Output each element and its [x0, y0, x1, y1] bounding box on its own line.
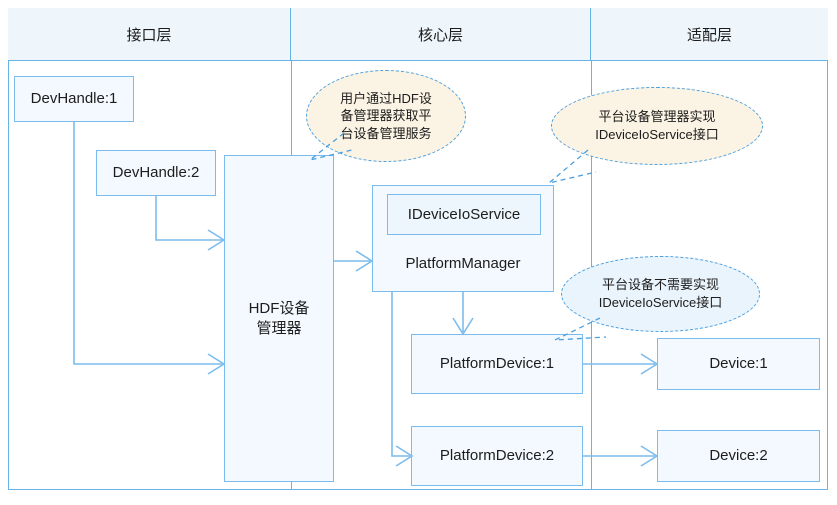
- connector-devhandle1-to-hdf: [74, 122, 222, 364]
- callout-platform-device: 平台设备不需要实现 IDeviceIoService接口: [561, 256, 760, 332]
- diagram-canvas: 接口层 核心层 适配层 DevHandle:1 DevHandle:2 HDF设…: [0, 0, 837, 505]
- callout-hdf-manager: 用户通过HDF设 备管理器获取平 台设备管理服务: [306, 70, 466, 162]
- callout-hdf-manager-label: 用户通过HDF设 备管理器获取平 台设备管理服务: [326, 90, 446, 143]
- callout-platform-device-label: 平台设备不需要实现 IDeviceIoService接口: [585, 276, 737, 311]
- callout-platform-manager: 平台设备管理器实现 IDeviceIoService接口: [551, 87, 763, 165]
- callout-platform-manager-label: 平台设备管理器实现 IDeviceIoService接口: [581, 108, 733, 143]
- connector-platform-manager-to-device2: [392, 292, 410, 456]
